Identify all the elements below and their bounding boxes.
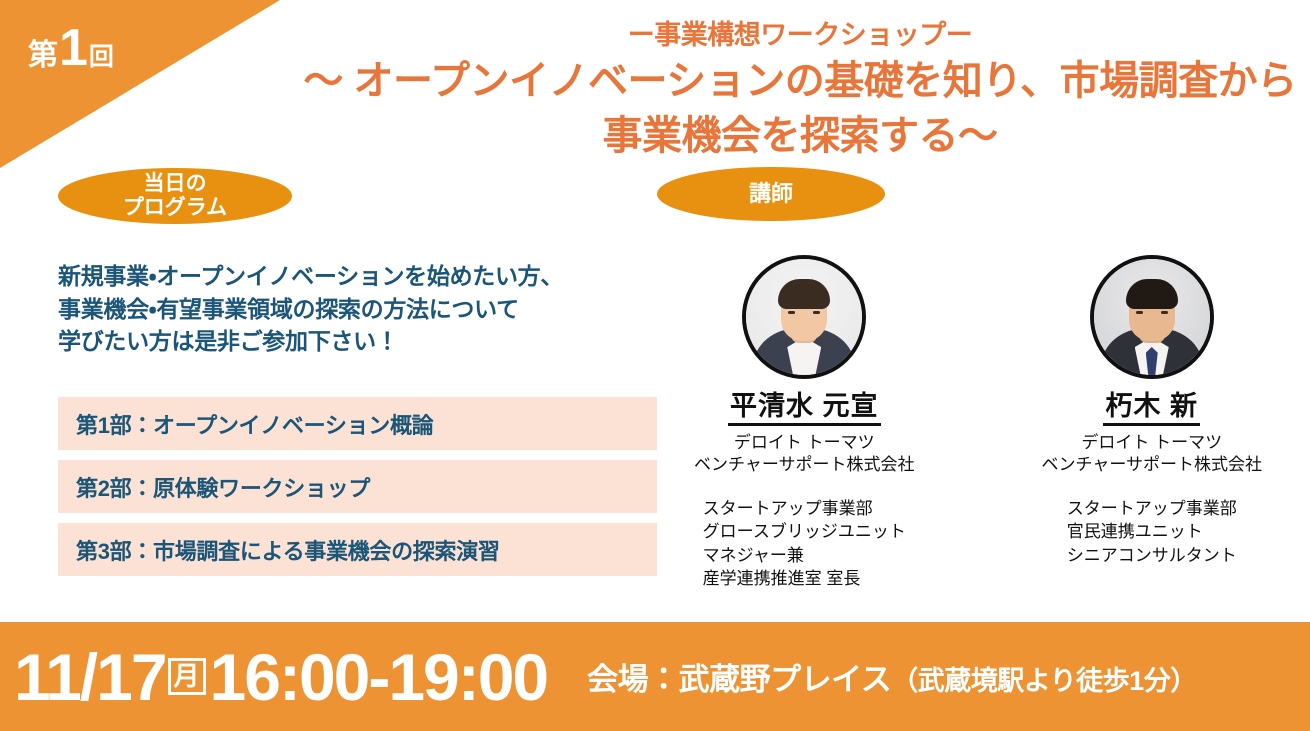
speaker-org-line-1: デロイト トーマツ	[1008, 432, 1297, 454]
program-row: 第3部：市場調査による事業機会の探索演習	[58, 523, 657, 576]
program-badge-line-1: 当日の	[144, 172, 207, 196]
speaker-role-line-2: 官民連携ユニット	[1067, 520, 1237, 543]
speaker-role-line-2: グロースブリッジユニット	[703, 520, 906, 543]
speaker-role-line-3: シニアコンサルタント	[1067, 544, 1237, 567]
intro-line-2: 事業機会・有望事業領域の探索の方法について	[58, 293, 668, 326]
issue-prefix-label: 第	[28, 41, 57, 71]
event-time: 16:00-19:00	[210, 644, 548, 710]
venue-access-note: （武蔵境駅より徒歩1分）	[891, 666, 1196, 696]
speaker-role-line-1: スタートアップ事業部	[703, 497, 906, 520]
speaker-avatar	[742, 255, 866, 379]
intro-line-1: 新規事業・オープンイノベーションを始めたい方、	[58, 260, 668, 293]
speaker-org-line-2: ベンチャーサポート株式会社	[660, 454, 949, 476]
speaker-badge-label: 講師	[749, 182, 793, 207]
intro-paragraph: 新規事業・オープンイノベーションを始めたい方、 事業機会・有望事業領域の探索の方…	[58, 260, 668, 358]
program-row: 第2部：原体験ワークショップ	[58, 460, 657, 513]
program-list: 第1部：オープンイノベーション概論 第2部：原体験ワークショップ 第3部：市場調…	[58, 397, 657, 586]
speaker-section-badge: 講師	[657, 167, 885, 221]
event-title-line-2: 事業機会を探索する～	[300, 112, 1300, 161]
speaker-list: 平清水 元宣 デロイト トーマツ ベンチャーサポート株式会社 スタートアップ事業…	[660, 250, 1300, 591]
day-of-week-badge: 月	[168, 658, 206, 695]
program-section-badge: 当日の プログラム	[58, 168, 292, 224]
speaker-role-line-3: マネジャー兼	[703, 544, 906, 567]
speaker-role: スタートアップ事業部 グロースブリッジユニット マネジャー兼 産学連携推進室 室…	[703, 497, 906, 591]
program-badge-line-2: プログラム	[123, 196, 227, 220]
event-info-bar: 11/17 月 16:00-19:00 会場：武蔵野プレイス（武蔵境駅より徒歩1…	[0, 622, 1310, 731]
speaker-organization: デロイト トーマツ ベンチャーサポート株式会社	[1008, 432, 1297, 477]
event-subtitle: ー事業構想ワークショップー	[300, 20, 1300, 51]
title-block: ー事業構想ワークショップー ～ オープンイノベーションの基礎を知り、市場調査から…	[300, 20, 1300, 161]
venue-name: 会場：武蔵野プレイス	[587, 662, 891, 697]
event-date: 11/17	[14, 644, 166, 710]
date-time-group: 11/17 月 16:00-19:00	[14, 644, 547, 710]
issue-number-label: 1	[59, 22, 88, 74]
speaker-org-line-1: デロイト トーマツ	[660, 432, 949, 454]
speaker-role-line-4: 産学連携推進室 室長	[703, 567, 906, 590]
speaker-organization: デロイト トーマツ ベンチャーサポート株式会社	[660, 432, 949, 477]
event-title-line-1: ～ オープンイノベーションの基礎を知り、市場調査から	[300, 57, 1300, 106]
speaker-avatar	[1090, 255, 1214, 379]
intro-line-3: 学びたい方は是非ご参加下さい！	[58, 325, 668, 358]
issue-suffix-label: 回	[89, 45, 114, 70]
speaker-org-line-2: ベンチャーサポート株式会社	[1008, 454, 1297, 476]
venue-info: 会場：武蔵野プレイス（武蔵境駅より徒歩1分）	[587, 654, 1197, 699]
event-poster: 第 1 回 ー事業構想ワークショップー ～ オープンイノベーションの基礎を知り、…	[0, 0, 1310, 731]
speaker-card: 朽木 新 デロイト トーマツ ベンチャーサポート株式会社 スタートアップ事業部 …	[1008, 250, 1297, 591]
speaker-role-line-1: スタートアップ事業部	[1067, 497, 1237, 520]
speaker-name: 平清水 元宣	[728, 391, 881, 426]
speaker-card: 平清水 元宣 デロイト トーマツ ベンチャーサポート株式会社 スタートアップ事業…	[660, 250, 949, 591]
issue-number-badge: 第 1 回	[28, 22, 114, 74]
program-row: 第1部：オープンイノベーション概論	[58, 397, 657, 450]
speaker-role: スタートアップ事業部 官民連携ユニット シニアコンサルタント	[1067, 497, 1237, 567]
speaker-name: 朽木 新	[1103, 391, 1200, 426]
